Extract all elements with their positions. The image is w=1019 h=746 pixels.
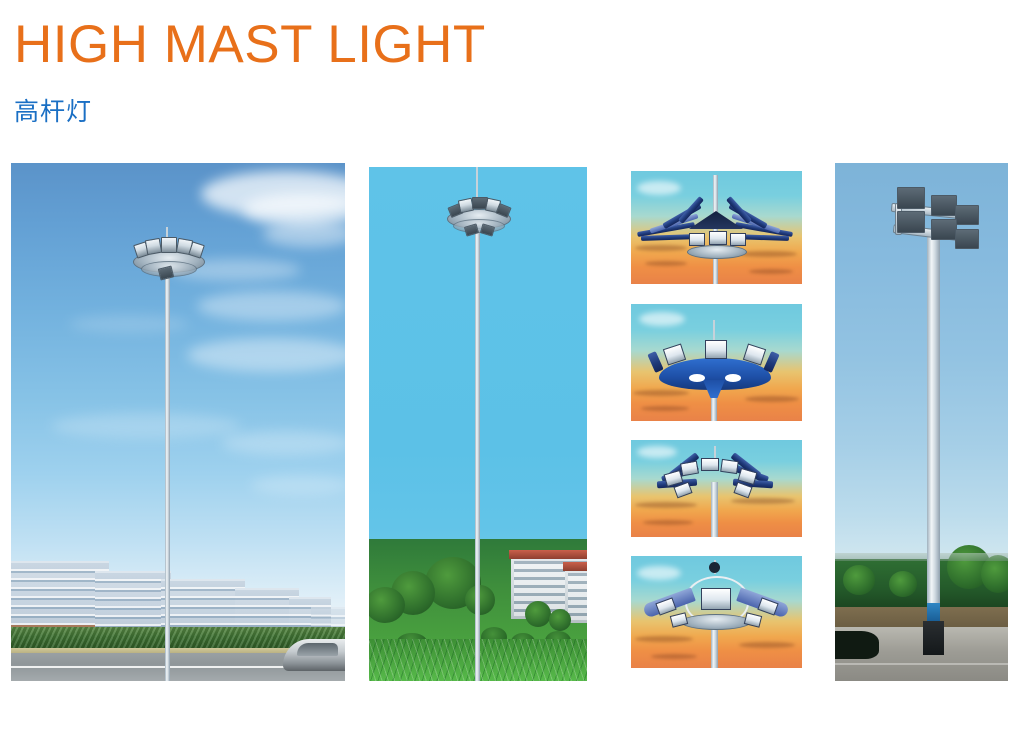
- sunset-streak: [651, 654, 697, 659]
- dirt-strip: [835, 607, 1008, 629]
- sunset-streak: [641, 406, 689, 411]
- cloud-shape: [69, 315, 189, 333]
- floodlight: [730, 233, 746, 246]
- building-row: [11, 551, 345, 681]
- lamp-arm: [763, 351, 779, 373]
- pavement-seam: [835, 663, 1008, 665]
- tree: [465, 585, 495, 615]
- floodlight: [689, 233, 705, 246]
- saucer-highlight: [689, 374, 705, 382]
- floodlight: [701, 458, 719, 471]
- lamp-head-ring: [681, 614, 751, 630]
- shadow-patch: [835, 631, 879, 659]
- villa-roof: [509, 550, 587, 559]
- cloud-shape: [251, 475, 345, 495]
- floodlight: [145, 238, 162, 255]
- cloud-shape: [187, 338, 345, 372]
- floodlight-underside: [480, 223, 495, 236]
- tree: [549, 609, 571, 631]
- mast-pole: [713, 175, 718, 284]
- central-lantern: [701, 588, 731, 610]
- car: [283, 639, 345, 671]
- thumb-starburst-head[interactable]: [631, 440, 802, 537]
- mast-pole: [711, 482, 718, 537]
- sunset-streak: [635, 245, 687, 251]
- floodlight: [931, 195, 957, 216]
- floodlight: [955, 205, 979, 225]
- floodlight: [897, 187, 925, 209]
- mast-pole: [475, 225, 480, 681]
- floodlight: [161, 237, 177, 253]
- pole-foot: [923, 621, 944, 655]
- sunset-streak: [749, 269, 793, 274]
- thumb-winged-head[interactable]: [631, 556, 802, 668]
- floodlight: [931, 219, 957, 240]
- floodlight: [680, 461, 699, 477]
- thumb-saucer-head[interactable]: [631, 304, 802, 421]
- floodlight: [720, 459, 739, 474]
- car-window: [297, 643, 338, 656]
- tree: [525, 601, 551, 627]
- cloud-shape: [637, 566, 681, 580]
- floodlight: [955, 229, 979, 249]
- sunset-streak: [739, 642, 795, 648]
- sunset-streak: [745, 396, 799, 402]
- villa-roof: [563, 562, 587, 571]
- cloud-shape: [263, 221, 345, 247]
- cloud-shape: [637, 181, 681, 195]
- distant-horizon: [835, 553, 1008, 561]
- mast-pole: [165, 263, 170, 681]
- finial-ball: [709, 562, 720, 573]
- lamp-arm: [647, 351, 663, 373]
- cloud-shape: [51, 413, 241, 439]
- tree: [889, 571, 917, 597]
- sunset-streak: [635, 502, 697, 508]
- photo-mast-street[interactable]: [11, 163, 345, 681]
- cloud-shape: [639, 312, 685, 326]
- cloud-shape: [221, 431, 345, 455]
- mast-pole: [927, 235, 940, 655]
- sunset-streak: [731, 498, 795, 504]
- lamp-head-ring-lower: [453, 219, 505, 233]
- lamp-head-ring: [687, 245, 747, 259]
- tree: [843, 565, 875, 595]
- sunset-streak: [633, 390, 689, 396]
- floodlight: [709, 231, 727, 245]
- product-photo-gallery: [0, 0, 1019, 746]
- pole-base-collar: [927, 603, 940, 621]
- floodlight: [897, 211, 925, 233]
- floodlight: [705, 340, 727, 359]
- sunset-streak: [643, 520, 693, 525]
- cloud-shape: [197, 291, 345, 321]
- photo-mast-garden[interactable]: [369, 167, 587, 681]
- floodlight-underside: [158, 265, 174, 280]
- photo-mast-6lamp[interactable]: [835, 163, 1008, 681]
- sunset-streak: [645, 261, 687, 266]
- saucer-highlight: [725, 374, 741, 382]
- sunset-streak: [739, 251, 797, 257]
- sunset-streak: [635, 636, 693, 642]
- thumb-crown-blades[interactable]: [631, 171, 802, 284]
- cloud-shape: [637, 446, 677, 458]
